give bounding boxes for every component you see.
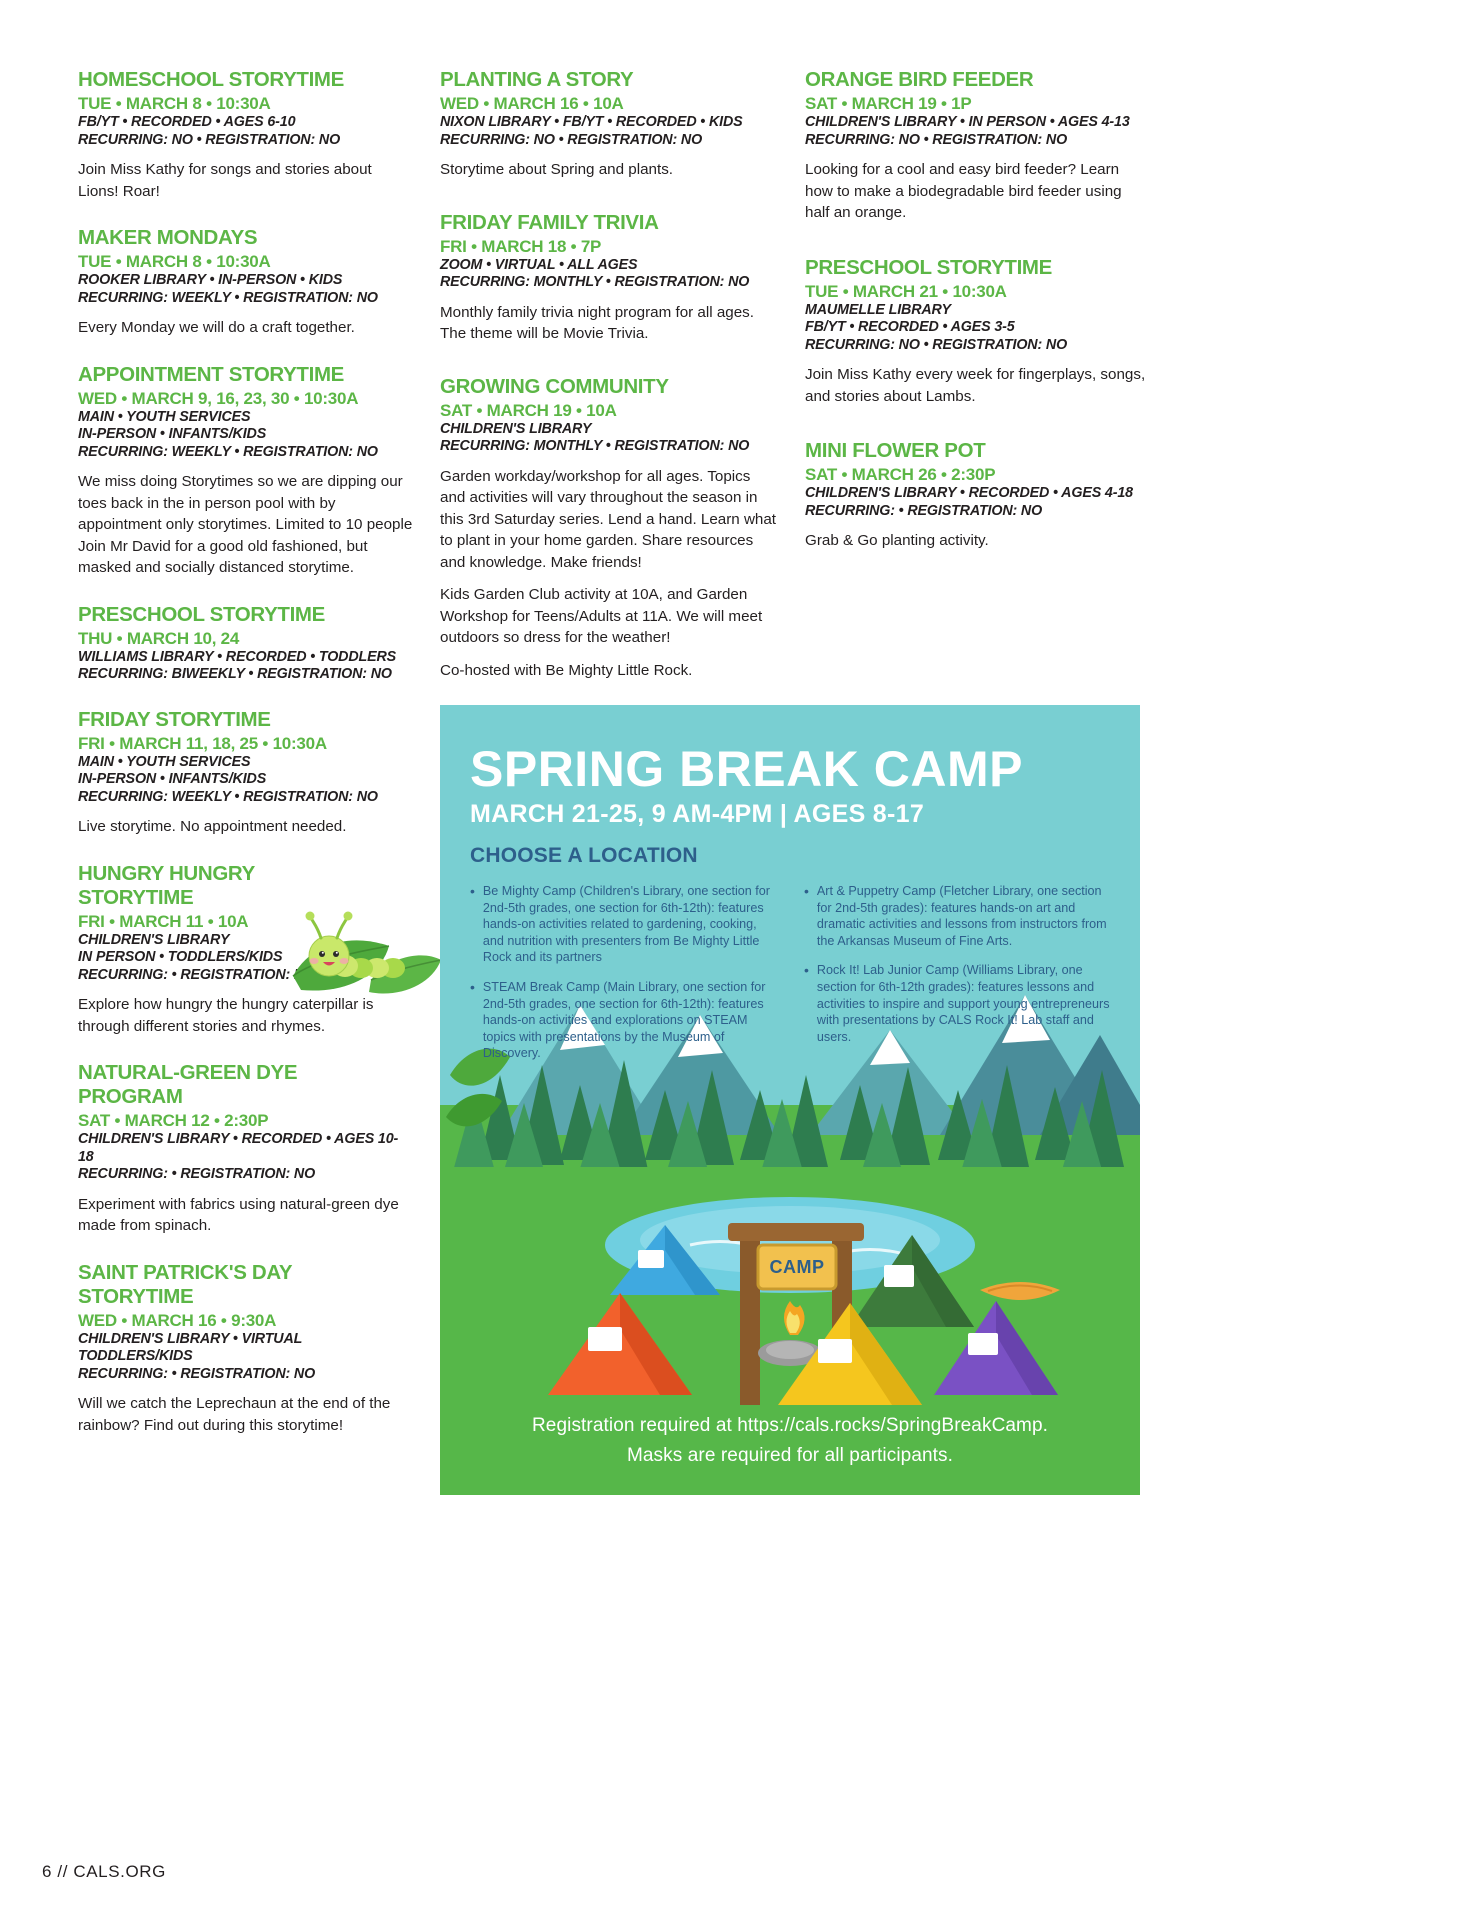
- poster-registration-line: Registration required at https://cals.ro…: [440, 1411, 1140, 1441]
- event-card: ORANGE BIRD FEEDER SAT • MARCH 19 • 1P C…: [805, 68, 1150, 224]
- event-card: HUNGRY HUNGRY STORYTIME FRI • MARCH 11 •…: [78, 862, 413, 1038]
- event-meta-line: MAIN • YOUTH SERVICES: [78, 409, 413, 427]
- poster-choose-location-heading: CHOOSE A LOCATION: [470, 843, 1114, 869]
- event-meta-line: CHILDREN'S LIBRARY • RECORDED • AGES 4-1…: [805, 485, 1150, 503]
- event-card: FRIDAY FAMILY TRIVIA FRI • MARCH 18 • 7P…: [440, 211, 778, 345]
- event-title: SAINT PATRICK'S DAY STORYTIME: [78, 1261, 346, 1309]
- event-card: APPOINTMENT STORYTIME WED • MARCH 9, 16,…: [78, 363, 413, 579]
- event-meta-line: CHILDREN'S LIBRARY • RECORDED • AGES 10-…: [78, 1131, 413, 1166]
- event-description: Will we catch the Leprechaun at the end …: [78, 1393, 413, 1436]
- event-meta-line: MAUMELLE LIBRARY: [805, 302, 1150, 320]
- event-when: FRI • MARCH 11 • 10A: [78, 911, 413, 932]
- poster-bullet-columns: • Be Mighty Camp (Children's Library, on…: [470, 883, 1114, 1075]
- poster-masks-line: Masks are required for all participants.: [440, 1441, 1140, 1471]
- event-when: TUE • MARCH 21 • 10:30A: [805, 281, 1150, 302]
- event-description: Join Miss Kathy every week for fingerpla…: [805, 364, 1150, 407]
- event-meta-line: CHILDREN'S LIBRARY: [440, 421, 778, 439]
- event-card: HOMESCHOOL STORYTIME TUE • MARCH 8 • 10:…: [78, 68, 413, 202]
- event-meta-line: RECURRING: WEEKLY • REGISTRATION: NO: [78, 789, 413, 807]
- event-card: PRESCHOOL STORYTIME THU • MARCH 10, 24 W…: [78, 603, 413, 684]
- event-meta-line: NIXON LIBRARY • FB/YT • RECORDED • KIDS: [440, 114, 778, 132]
- spring-break-camp-poster: SPRING BREAK CAMP MARCH 21-25, 9 AM-4PM …: [440, 705, 1140, 1495]
- event-card: MAKER MONDAYS TUE • MARCH 8 • 10:30A ROO…: [78, 226, 413, 339]
- event-meta-line: ZOOM • VIRTUAL • ALL AGES: [440, 257, 778, 275]
- event-meta-line: RECURRING: • REGISTRATION: NO: [78, 967, 413, 985]
- event-title: FRIDAY STORYTIME: [78, 708, 413, 732]
- event-meta-line: RECURRING: • REGISTRATION: NO: [78, 1166, 413, 1184]
- event-meta-line: RECURRING: NO • REGISTRATION: NO: [78, 132, 413, 150]
- event-description: Garden workday/workshop for all ages. To…: [440, 466, 778, 574]
- bullet-dot-icon: •: [470, 979, 475, 1062]
- event-title: PRESCHOOL STORYTIME: [805, 256, 1150, 280]
- event-card: MINI FLOWER POT SAT • MARCH 26 • 2:30P C…: [805, 439, 1150, 552]
- event-description: Experiment with fabrics using natural-gr…: [78, 1194, 413, 1237]
- poster-bullet: • Rock It! Lab Junior Camp (Williams Lib…: [804, 962, 1114, 1045]
- event-meta-line: RECURRING: • REGISTRATION: NO: [78, 1366, 413, 1384]
- camp-sign-label: CAMP: [770, 1257, 825, 1278]
- column-2: PLANTING A STORY WED • MARCH 16 • 10A NI…: [440, 68, 778, 705]
- event-description: Join Miss Kathy for songs and stories ab…: [78, 159, 413, 202]
- event-when: THU • MARCH 10, 24: [78, 628, 413, 649]
- event-description: Storytime about Spring and plants.: [440, 159, 778, 181]
- event-description: Grab & Go planting activity.: [805, 530, 1150, 552]
- event-title: HOMESCHOOL STORYTIME: [78, 68, 413, 92]
- event-meta-line: FB/YT • RECORDED • AGES 6-10: [78, 114, 413, 132]
- event-title: APPOINTMENT STORYTIME: [78, 363, 413, 387]
- event-description: Monthly family trivia night program for …: [440, 302, 778, 345]
- event-description: Live storytime. No appointment needed.: [78, 816, 413, 838]
- bullet-dot-icon: •: [470, 883, 475, 966]
- event-meta-line: RECURRING: WEEKLY • REGISTRATION: NO: [78, 444, 413, 462]
- poster-bullet: • Be Mighty Camp (Children's Library, on…: [470, 883, 780, 966]
- event-card: GROWING COMMUNITY SAT • MARCH 19 • 10A C…: [440, 375, 778, 682]
- column-1: HOMESCHOOL STORYTIME TUE • MARCH 8 • 10:…: [78, 68, 413, 1460]
- event-description: Explore how hungry the hungry caterpilla…: [78, 994, 413, 1037]
- event-when: SAT • MARCH 12 • 2:30P: [78, 1110, 413, 1131]
- event-meta-line: IN-PERSON • INFANTS/KIDS: [78, 771, 413, 789]
- event-description: Every Monday we will do a craft together…: [78, 317, 413, 339]
- event-meta-line: WILLIAMS LIBRARY • RECORDED • TODDLERS: [78, 649, 413, 667]
- event-when: FRI • MARCH 18 • 7P: [440, 236, 778, 257]
- event-meta-line: RECURRING: BIWEEKLY • REGISTRATION: NO: [78, 666, 413, 684]
- event-meta-line: RECURRING: WEEKLY • REGISTRATION: NO: [78, 290, 413, 308]
- bullet-dot-icon: •: [804, 962, 809, 1045]
- page-number-footer: 6 // CALS.ORG: [42, 1862, 166, 1882]
- event-description: Co-hosted with Be Mighty Little Rock.: [440, 660, 778, 682]
- event-meta-line: RECURRING: MONTHLY • REGISTRATION: NO: [440, 438, 778, 456]
- poster-bullet-text: Be Mighty Camp (Children's Library, one …: [483, 883, 780, 966]
- poster-subtitle: MARCH 21-25, 9 AM-4PM | AGES 8-17: [470, 799, 1114, 829]
- poster-bullets-left: • Be Mighty Camp (Children's Library, on…: [470, 883, 780, 1075]
- event-title: PLANTING A STORY: [440, 68, 778, 92]
- event-meta-line: CHILDREN'S LIBRARY • IN PERSON • AGES 4-…: [805, 114, 1150, 132]
- event-meta-line: MAIN • YOUTH SERVICES: [78, 754, 413, 772]
- event-title: NATURAL-GREEN DYE PROGRAM: [78, 1061, 353, 1109]
- poster-text-block: SPRING BREAK CAMP MARCH 21-25, 9 AM-4PM …: [440, 705, 1140, 1075]
- event-title: PRESCHOOL STORYTIME: [78, 603, 413, 627]
- poster-bullets-right: • Art & Puppetry Camp (Fletcher Library,…: [804, 883, 1114, 1075]
- event-meta-line: IN-PERSON • INFANTS/KIDS: [78, 426, 413, 444]
- page: HOMESCHOOL STORYTIME TUE • MARCH 8 • 10:…: [0, 0, 1484, 1920]
- poster-bullet-text: Art & Puppetry Camp (Fletcher Library, o…: [817, 883, 1114, 949]
- poster-bullet: • Art & Puppetry Camp (Fletcher Library,…: [804, 883, 1114, 949]
- event-when: SAT • MARCH 19 • 1P: [805, 93, 1150, 114]
- event-card: NATURAL-GREEN DYE PROGRAM SAT • MARCH 12…: [78, 1061, 413, 1237]
- event-title: MAKER MONDAYS: [78, 226, 413, 250]
- event-meta-line: FB/YT • RECORDED • AGES 3-5: [805, 319, 1150, 337]
- event-card: PRESCHOOL STORYTIME TUE • MARCH 21 • 10:…: [805, 256, 1150, 408]
- camp-sign-label-wrap: CAMP: [758, 1245, 836, 1289]
- event-meta-line: CHILDREN'S LIBRARY: [78, 932, 413, 950]
- event-description: Kids Garden Club activity at 10A, and Ga…: [440, 584, 778, 649]
- event-meta-line: RECURRING: NO • REGISTRATION: NO: [805, 337, 1150, 355]
- bullet-dot-icon: •: [804, 883, 809, 949]
- event-meta-line: RECURRING: • REGISTRATION: NO: [805, 503, 1150, 521]
- event-when: WED • MARCH 16 • 9:30A: [78, 1310, 413, 1331]
- event-title: HUNGRY HUNGRY STORYTIME: [78, 862, 293, 910]
- event-meta-line: TODDLERS/KIDS: [78, 1348, 413, 1366]
- event-title: FRIDAY FAMILY TRIVIA: [440, 211, 778, 235]
- column-3: ORANGE BIRD FEEDER SAT • MARCH 19 • 1P C…: [805, 68, 1150, 576]
- event-title: MINI FLOWER POT: [805, 439, 1150, 463]
- event-title: ORANGE BIRD FEEDER: [805, 68, 1150, 92]
- event-meta-line: IN PERSON • TODDLERS/KIDS: [78, 949, 413, 967]
- poster-bullet-text: Rock It! Lab Junior Camp (Williams Libra…: [817, 962, 1114, 1045]
- event-title: GROWING COMMUNITY: [440, 375, 778, 399]
- poster-title: SPRING BREAK CAMP: [470, 743, 1114, 795]
- event-meta-line: CHILDREN'S LIBRARY • VIRTUAL: [78, 1331, 413, 1349]
- poster-bullet: • STEAM Break Camp (Main Library, one se…: [470, 979, 780, 1062]
- event-when: SAT • MARCH 19 • 10A: [440, 400, 778, 421]
- event-when: SAT • MARCH 26 • 2:30P: [805, 464, 1150, 485]
- poster-footer: Registration required at https://cals.ro…: [440, 1411, 1140, 1471]
- event-when: WED • MARCH 9, 16, 23, 30 • 10:30A: [78, 388, 413, 409]
- event-description: Looking for a cool and easy bird feeder?…: [805, 159, 1150, 224]
- event-meta-line: ROOKER LIBRARY • IN-PERSON • KIDS: [78, 272, 413, 290]
- event-when: TUE • MARCH 8 • 10:30A: [78, 251, 413, 272]
- event-meta-line: RECURRING: NO • REGISTRATION: NO: [805, 132, 1150, 150]
- event-meta-line: RECURRING: NO • REGISTRATION: NO: [440, 132, 778, 150]
- event-when: WED • MARCH 16 • 10A: [440, 93, 778, 114]
- event-card: PLANTING A STORY WED • MARCH 16 • 10A NI…: [440, 68, 778, 181]
- poster-bullet-text: STEAM Break Camp (Main Library, one sect…: [483, 979, 780, 1062]
- event-when: FRI • MARCH 11, 18, 25 • 10:30A: [78, 733, 413, 754]
- event-when: TUE • MARCH 8 • 10:30A: [78, 93, 413, 114]
- event-card: FRIDAY STORYTIME FRI • MARCH 11, 18, 25 …: [78, 708, 413, 838]
- event-meta-line: RECURRING: MONTHLY • REGISTRATION: NO: [440, 274, 778, 292]
- event-description: We miss doing Storytimes so we are dippi…: [78, 471, 413, 579]
- event-card: SAINT PATRICK'S DAY STORYTIME WED • MARC…: [78, 1261, 413, 1437]
